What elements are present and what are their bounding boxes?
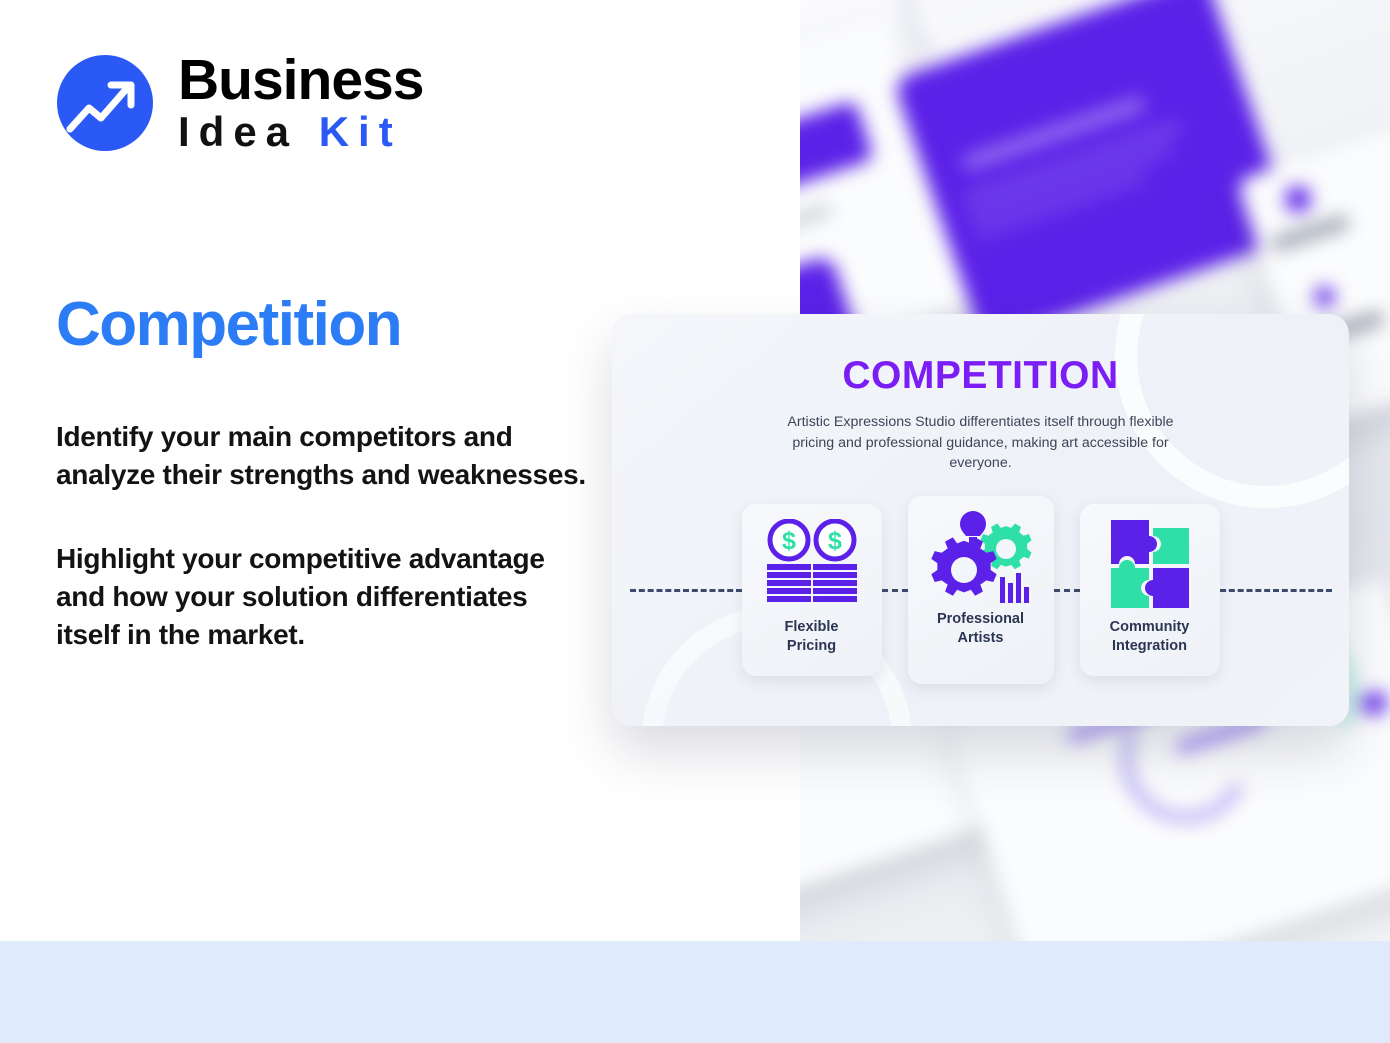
page-description: Identify your main competitors and analy… (56, 418, 586, 654)
feature-label-line2: Integration (1112, 638, 1187, 654)
svg-text:$: $ (828, 527, 842, 555)
brand-name-line2: Idea Kit (178, 111, 423, 153)
brand-kit-word: Kit (319, 108, 402, 155)
competition-slide-card[interactable]: COMPETITION Artistic Expressions Studio … (612, 314, 1349, 726)
svg-text:$: $ (782, 527, 796, 555)
feature-label-line2: Artists (958, 630, 1004, 646)
bg-gray-block (1270, 214, 1350, 252)
connector-dash-mid-left (882, 589, 908, 592)
brand-name-line1: Business (178, 52, 423, 109)
connector-dash-mid-right (1054, 589, 1080, 592)
bottom-color-band (0, 941, 1390, 1043)
feature-card-community-integration[interactable]: Community Integration (1080, 504, 1220, 676)
connector-dash-left (630, 589, 742, 592)
bg-purple-dot (1312, 284, 1337, 309)
card-decor-arc (1115, 314, 1349, 508)
feature-cards-row: $ $ (612, 500, 1349, 680)
feature-card-flexible-pricing[interactable]: $ $ (742, 504, 882, 676)
page-title: Competition (56, 292, 401, 357)
feature-label-line2: Pricing (787, 638, 836, 654)
trend-arrow-circle-icon (56, 54, 154, 152)
feature-label-line1: Community (1110, 619, 1190, 635)
feature-label-professional-artists: Professional Artists (937, 610, 1024, 648)
puzzle-pieces-icon (1103, 516, 1197, 612)
slide-subtitle: Artistic Expressions Studio differentiat… (781, 412, 1181, 474)
coin-stacks-icon: $ $ (763, 516, 861, 612)
brand-wordmark: Business Idea Kit (178, 52, 423, 153)
slide-title: COMPETITION (612, 354, 1349, 398)
feature-card-professional-artists[interactable]: Professional Artists (908, 496, 1054, 684)
brand-idea-word: Idea (178, 108, 298, 155)
bg-purple-dot (1360, 690, 1389, 716)
feature-label-flexible-pricing: Flexible Pricing (785, 618, 839, 656)
gears-lightbulb-chart-icon (928, 508, 1034, 604)
bg-purple-dot (1282, 183, 1315, 216)
feature-label-community-integration: Community Integration (1110, 618, 1190, 656)
connector-dash-right (1220, 589, 1332, 592)
description-paragraph-1: Identify your main competitors and analy… (56, 418, 586, 494)
brand-logo[interactable]: Business Idea Kit (56, 52, 423, 153)
feature-label-line1: Flexible (785, 619, 839, 635)
feature-label-line1: Professional (937, 611, 1024, 627)
description-paragraph-2: Highlight your competitive advantage and… (56, 540, 586, 654)
